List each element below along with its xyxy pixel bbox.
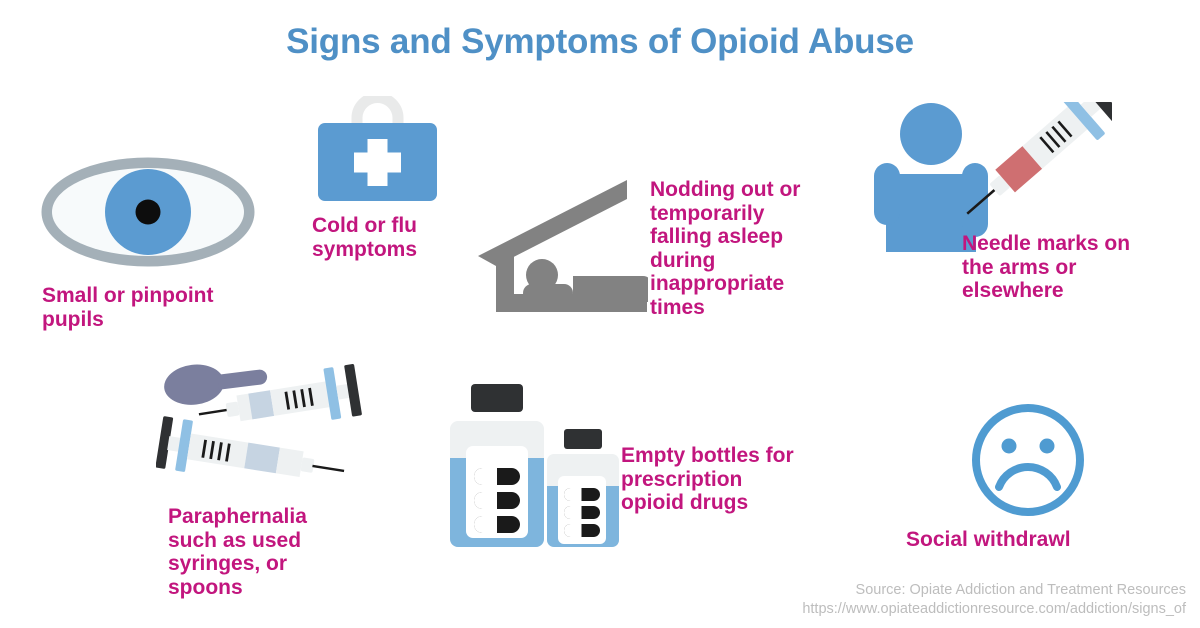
item-nodding-out: Nodding out or temporarily falling aslee…	[478, 172, 648, 324]
pill-bottles-icon	[444, 382, 629, 554]
source-line-1: Source: Opiate Addiction and Treatment R…	[802, 581, 1186, 601]
item-social-withdrawal: Social withdrawl	[952, 402, 1104, 552]
label-needle-marks: Needle marks on the arms or elsewhere	[962, 232, 1132, 303]
person-sleeping-in-bed-icon	[478, 172, 648, 324]
infographic-canvas: Signs and Symptoms of Opioid Abuse Small…	[0, 0, 1200, 628]
source-line-2: https://www.opiateaddictionresource.com/…	[802, 600, 1186, 620]
sad-face-icon	[952, 402, 1104, 524]
label-social-withdrawal: Social withdrawl	[906, 528, 1104, 552]
label-pinpoint-pupils: Small or pinpoint pupils	[42, 284, 258, 331]
page-title: Signs and Symptoms of Opioid Abuse	[0, 22, 1200, 62]
item-empty-bottles: Empty bottles for prescription opioid dr…	[444, 382, 629, 554]
first-aid-kit-icon	[310, 96, 445, 204]
label-nodding-out: Nodding out or temporarily falling aslee…	[650, 178, 850, 319]
spoon-and-syringes-icon	[156, 358, 371, 493]
source-credit: Source: Opiate Addiction and Treatment R…	[802, 581, 1186, 620]
label-cold-or-flu: Cold or flu symptoms	[312, 214, 445, 261]
label-empty-bottles: Empty bottles for prescription opioid dr…	[621, 444, 836, 515]
person-with-syringe-icon	[862, 102, 1112, 252]
label-paraphernalia: Paraphernalia such as used syringes, or …	[168, 505, 371, 599]
item-needle-marks: Needle marks on the arms or elsewhere	[862, 102, 1112, 252]
item-pinpoint-pupils: Small or pinpoint pupils	[38, 152, 258, 331]
eye-icon	[38, 152, 258, 272]
item-cold-or-flu: Cold or flu symptoms	[310, 96, 445, 261]
item-paraphernalia: Paraphernalia such as used syringes, or …	[156, 358, 371, 599]
